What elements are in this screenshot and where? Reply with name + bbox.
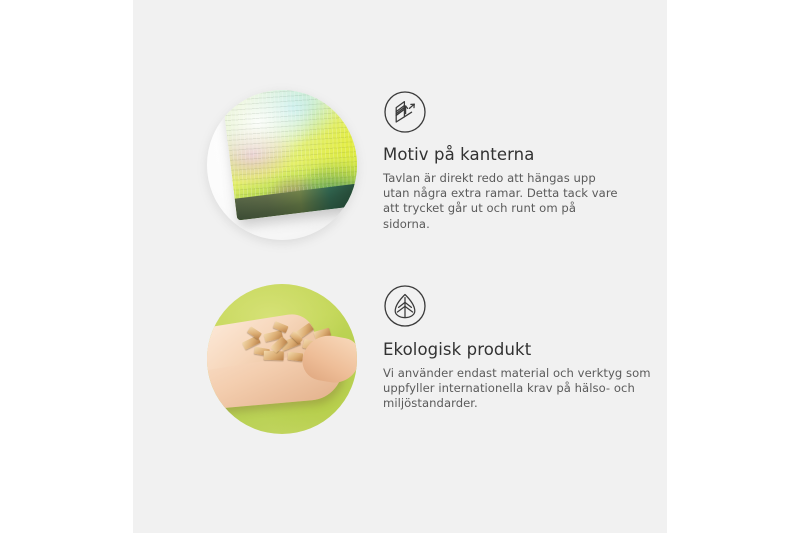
panel-background [133, 0, 667, 533]
product-feature-banner: Motiv på kanterna Tavlan är direkt redo … [0, 0, 800, 533]
right-white-band [667, 0, 800, 533]
feature-2-content: Ekologisk produkt Vi använder endast mat… [383, 284, 653, 412]
feature-1-content: Motiv på kanterna Tavlan är direkt redo … [383, 90, 653, 232]
wood-chips-in-hands-photo [207, 284, 357, 434]
canvas-wrap-edge-icon [383, 90, 427, 134]
feature-1-body: Tavlan är direkt redo att hängas upp uta… [383, 171, 623, 232]
left-white-band [0, 0, 133, 533]
feature-2-title: Ekologisk produkt [383, 340, 653, 360]
canvas-corner-photo [207, 90, 357, 240]
leaf-icon [383, 284, 427, 328]
feature-1-title: Motiv på kanterna [383, 145, 653, 165]
feature-2-body: Vi använder endast material och verktyg … [383, 366, 653, 412]
canvas-object [222, 90, 357, 221]
